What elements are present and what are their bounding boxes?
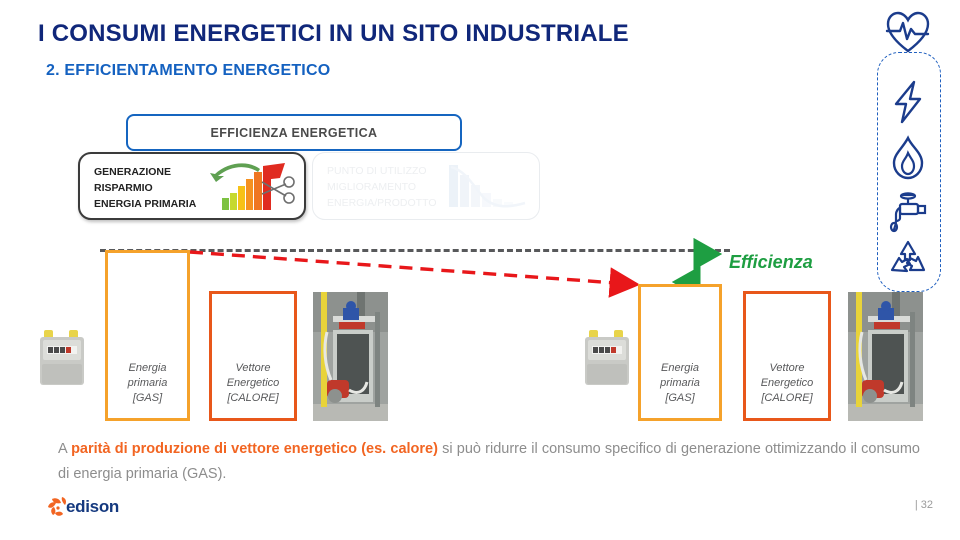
panel-generazione[interactable]: GENERAZIONE RISPARMIO ENERGIA PRIMARIA — [78, 152, 306, 220]
caption-text: A parità di produzione di vettore energe… — [58, 437, 920, 487]
baseline-dashed-line — [100, 249, 730, 252]
edison-wordmark: edison — [66, 497, 119, 517]
flame-icon — [884, 134, 932, 182]
page-title: I CONSUMI ENERGETICI IN UN SITO INDUSTRI… — [38, 20, 629, 48]
heart-pulse-icon — [884, 8, 932, 56]
caption-lead: A — [58, 441, 71, 457]
bar-energia-primaria-before: Energia primaria [GAS] — [105, 250, 190, 421]
page-number: | 32 — [915, 499, 933, 511]
trend-arrow — [190, 252, 630, 284]
panel-punto-utilizzo[interactable]: PUNTO DI UTILIZZO MIGLIORAMENTO ENERGIA/… — [312, 152, 540, 220]
bar-energia-primaria-after: Energia primaria [GAS] — [638, 284, 722, 421]
efficienza-energetica-label: EFFICIENZA ENERGETICA — [211, 126, 378, 140]
bar-vettore-energetico-before: Vettore Energetico [CALORE] — [209, 291, 297, 421]
caption-highlight: parità di produzione di vettore energeti… — [71, 441, 438, 457]
water-tap-icon — [884, 186, 932, 234]
slide-root: I CONSUMI ENERGETICI IN UN SITO INDUSTRI… — [0, 0, 960, 540]
gas-meter-photo-left — [33, 318, 91, 396]
bar-label: Vettore Energetico [CALORE] — [761, 361, 814, 418]
efficienza-gain-label: Efficienza — [729, 252, 813, 273]
lightning-bolt-icon — [884, 78, 932, 126]
bar-label: Vettore Energetico [CALORE] — [227, 361, 280, 418]
page-subtitle: 2. EFFICIENTAMENTO ENERGETICO — [46, 62, 330, 80]
recycle-icon — [884, 236, 932, 284]
boiler-photo-left — [313, 292, 388, 421]
bar-label: Energia primaria [GAS] — [128, 361, 168, 418]
bar-chart-scissors-icon — [200, 160, 296, 216]
bar-label: Energia primaria [GAS] — [660, 361, 700, 418]
boiler-photo-right — [848, 292, 923, 421]
panel-punto-utilizzo-label: PUNTO DI UTILIZZO MIGLIORAMENTO ENERGIA/… — [327, 163, 437, 211]
gas-meter-photo-right — [578, 318, 636, 396]
declining-bar-chart-icon — [445, 161, 529, 213]
efficienza-energetica-box: EFFICIENZA ENERGETICA — [126, 114, 462, 151]
bar-vettore-energetico-after: Vettore Energetico [CALORE] — [743, 291, 831, 421]
panel-generazione-label: GENERAZIONE RISPARMIO ENERGIA PRIMARIA — [94, 164, 196, 212]
